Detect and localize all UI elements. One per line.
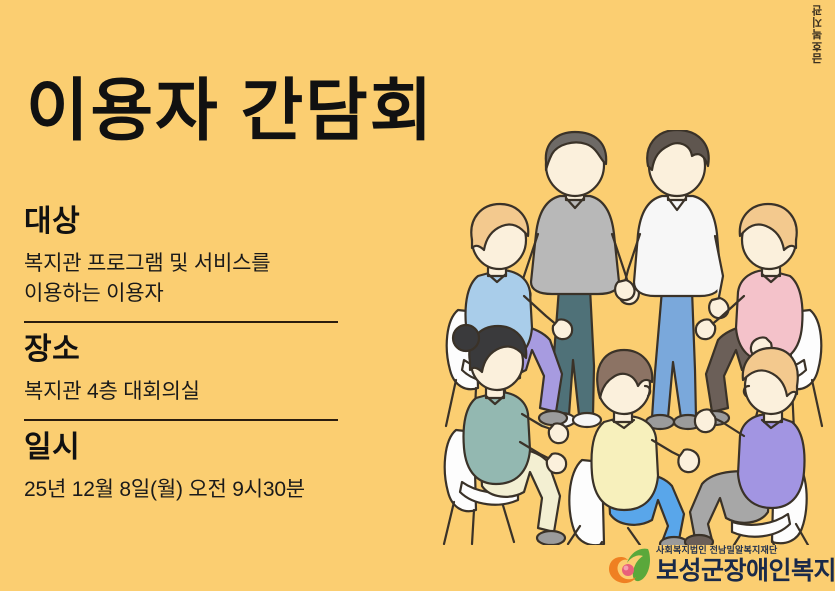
info-target-line-1: 복지관 프로그램 및 서비스를: [24, 249, 352, 279]
info-heading-datetime: 일시: [24, 431, 352, 466]
divider-after-target: [24, 321, 338, 323]
info-block-datetime: 일시 25년 12월 8일(월) 오전 9시30분: [22, 431, 352, 505]
info-column: 대상 복지관 프로그램 및 서비스를 이용하는 이용자 장소 복지관 4층 대회…: [22, 205, 352, 505]
info-block-target: 대상 복지관 프로그램 및 서비스를 이용하는 이용자: [22, 205, 352, 309]
logo-subtitle: 사회복지법인 전남밀알복지재단: [656, 546, 835, 556]
info-datetime-line-1: 25년 12월 8일(월) 오전 9시30분: [24, 475, 352, 505]
info-body-datetime: 25년 12월 8일(월) 오전 9시30분: [24, 475, 352, 505]
info-target-line-2: 이용하는 이용자: [24, 279, 352, 309]
divider-after-place: [24, 419, 338, 421]
page-title: 이용자 간담회: [26, 72, 434, 150]
heart-leaf-logo-icon: [608, 545, 652, 585]
figure-seated-purple: [685, 348, 808, 545]
info-block-place: 장소 복지관 4층 대회의실: [22, 333, 352, 407]
info-place-line-1: 복지관 4층 대회의실: [24, 377, 352, 407]
side-label-text: 금호복지관: [810, 4, 826, 64]
logo-organization-name: 보성군장애인복지관: [656, 558, 835, 584]
poster-canvas: 금호복지관 이용자 간담회 대상 복지관 프로그램 및 서비스를 이용하는 이용…: [0, 0, 835, 591]
group-discussion-illustration: [440, 130, 835, 545]
organization-logo: 사회복지법인 전남밀알복지재단 보성군장애인복지관: [608, 543, 830, 587]
info-body-target: 복지관 프로그램 및 서비스를 이용하는 이용자: [24, 249, 352, 310]
vertical-side-label: 금호복지관: [803, 4, 833, 74]
logo-text-group: 사회복지법인 전남밀알복지재단 보성군장애인복지관: [656, 546, 835, 584]
info-heading-place: 장소: [24, 333, 352, 368]
info-heading-target: 대상: [24, 205, 352, 240]
info-body-place: 복지관 4층 대회의실: [24, 377, 352, 407]
